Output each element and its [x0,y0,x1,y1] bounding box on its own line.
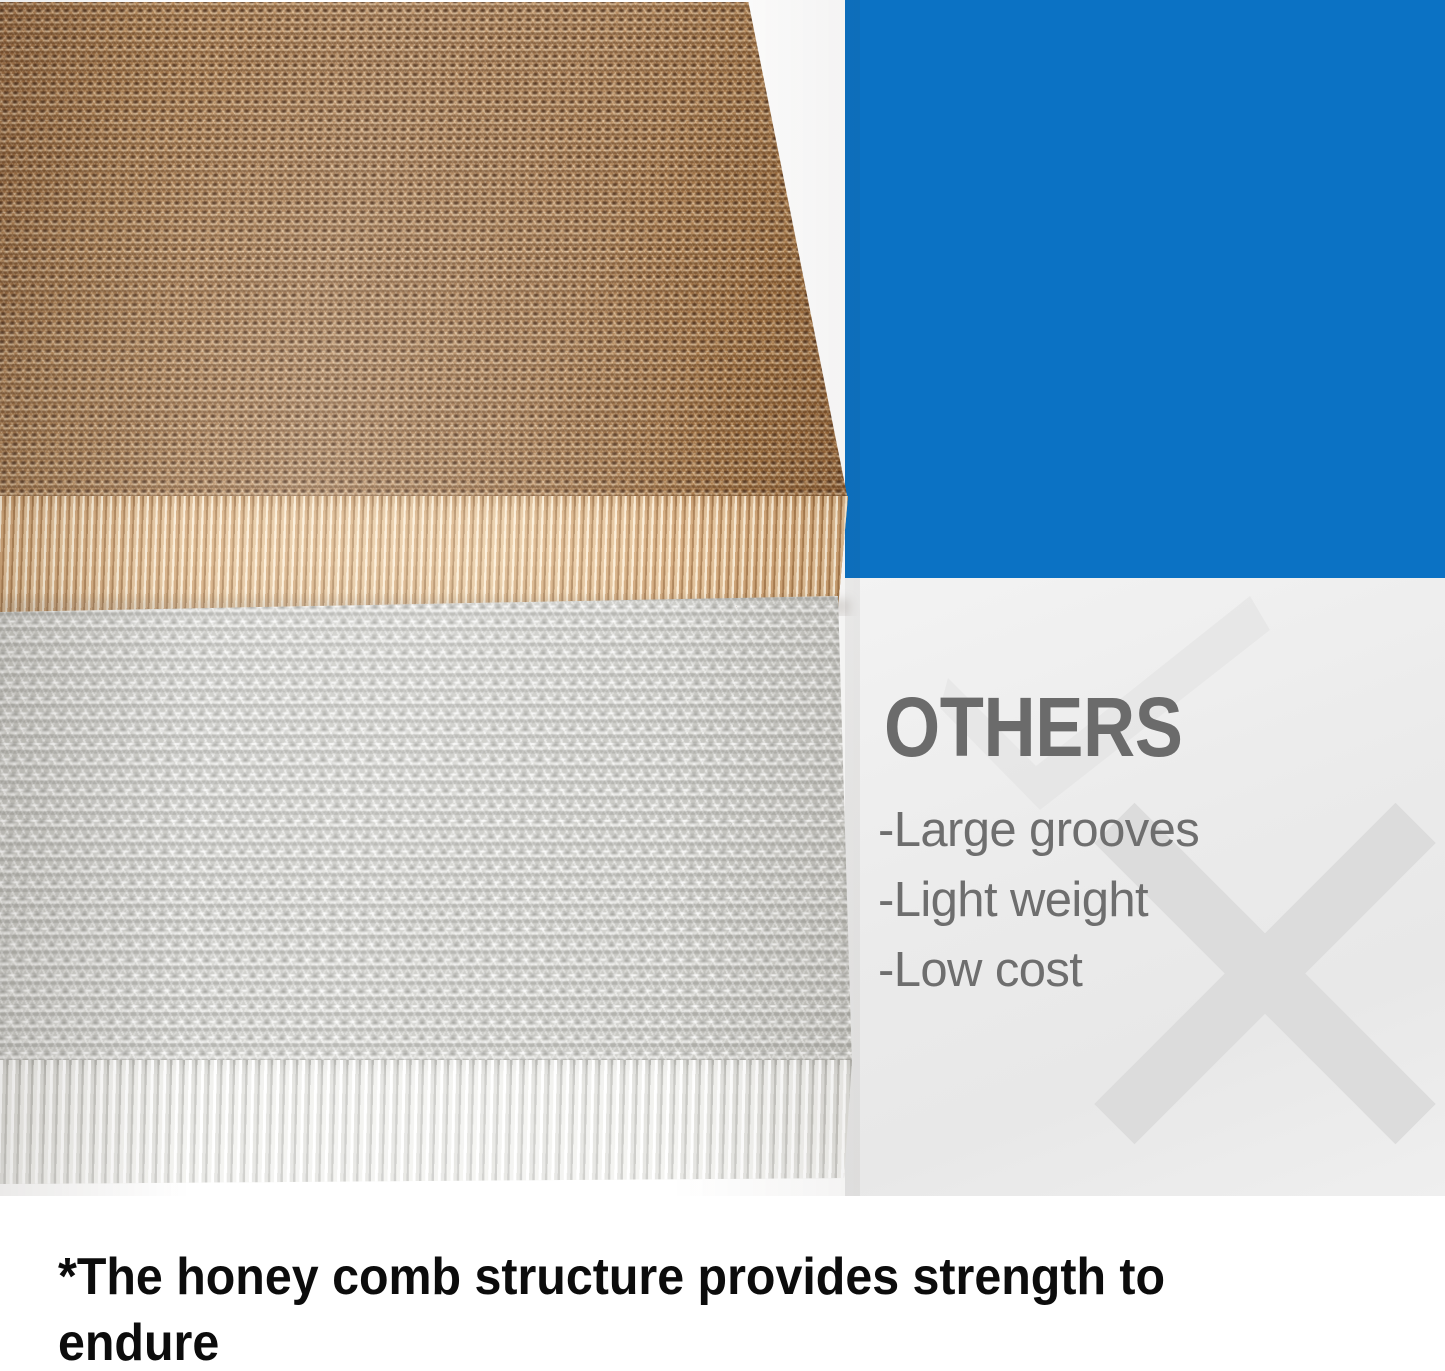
others-bullet-2: -Light weight [878,865,1199,935]
white-slab-top-face [0,596,860,1066]
our-product-panel: OUR PRODUCT -Highest density -Much sturd… [845,0,1445,578]
caption-line-1: *The honey comb structure provides stren… [58,1244,1323,1371]
white-honeycomb-cardboard-photo [0,596,860,1196]
white-slab-side-edge [0,1060,860,1184]
others-headline: OTHERS [884,685,1182,769]
others-panel: OTHERS -Large grooves -Light weight -Low… [845,578,1445,1196]
tan-honeycomb-texture [0,2,860,500]
white-honeycomb-texture [0,596,860,1066]
others-bullet-3: -Low cost [878,935,1199,1005]
infographic-canvas: OUR PRODUCT -Highest density -Much sturd… [0,0,1445,1371]
others-bullet-list: -Large grooves -Light weight -Low cost [878,795,1199,1005]
tan-slab-top-face [0,0,860,500]
tan-corrugated-cardboard-photo [0,0,860,616]
others-bullet-1: -Large grooves [878,795,1199,865]
footnote-caption: *The honey comb structure provides stren… [58,1244,1323,1371]
